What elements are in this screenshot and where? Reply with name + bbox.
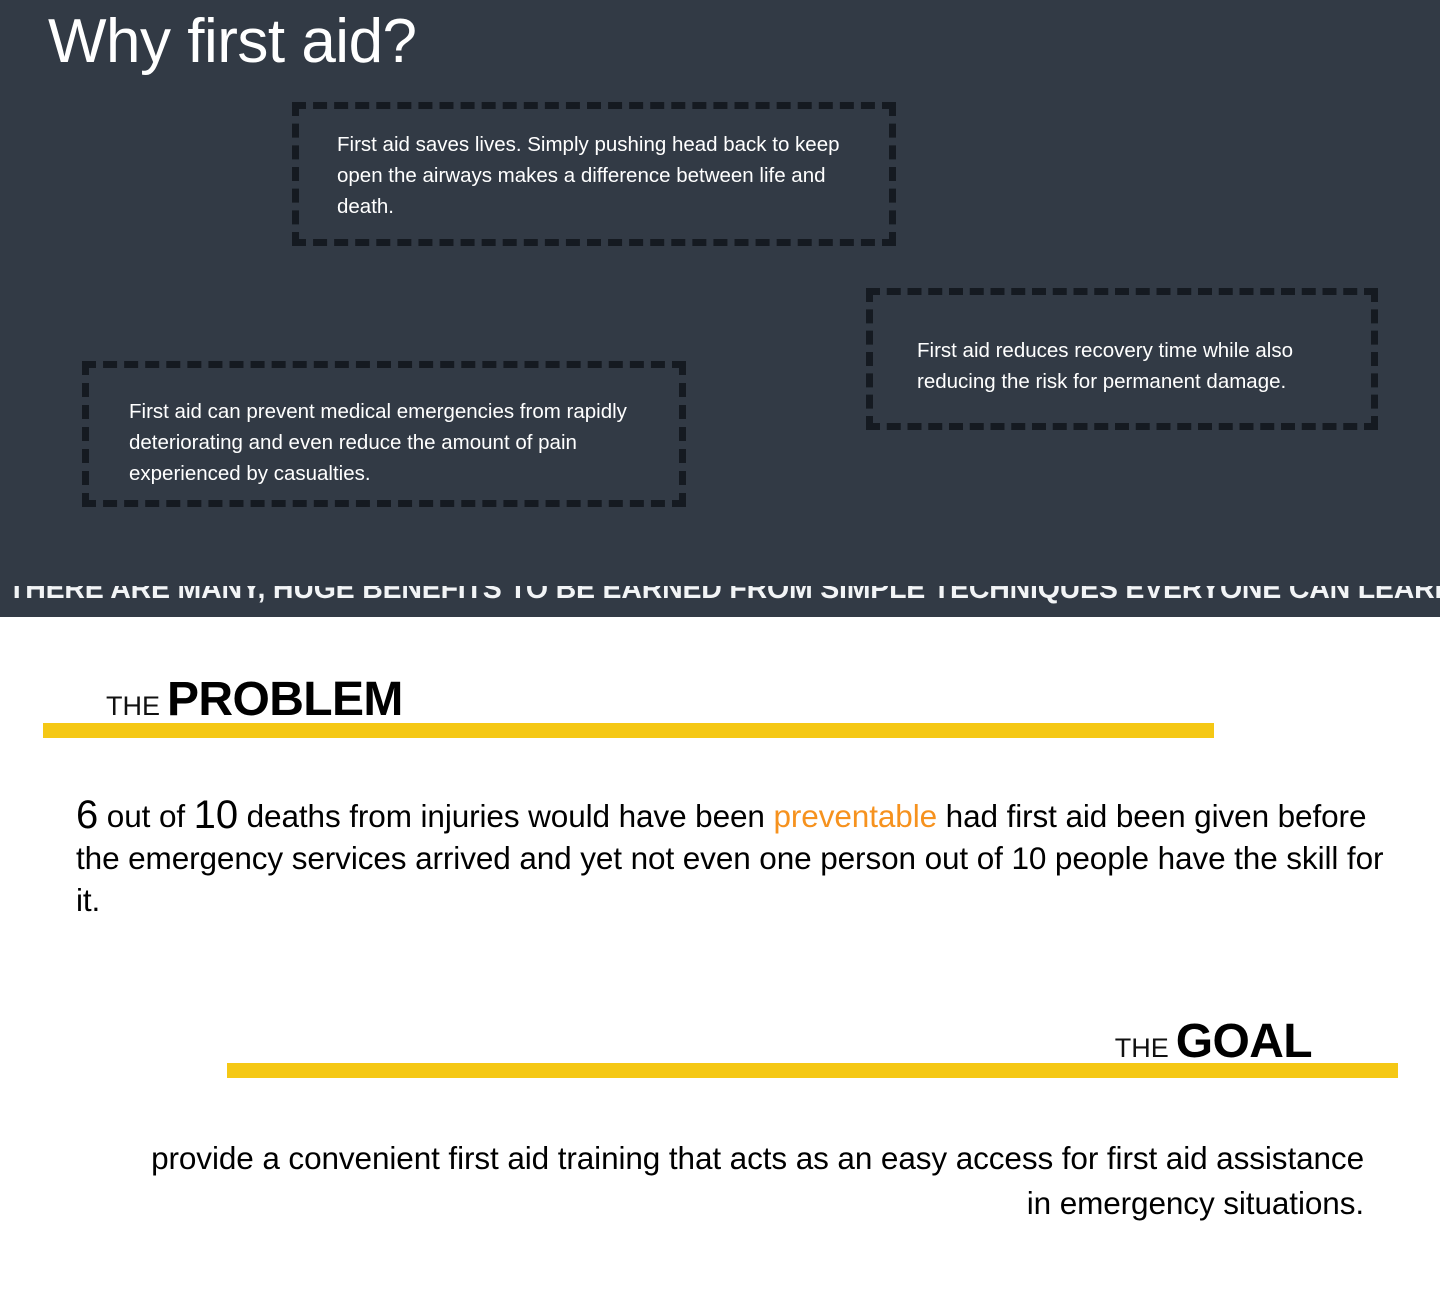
problem-stat-denominator: 10 xyxy=(194,793,238,837)
goal-headline: GOAL xyxy=(1176,1014,1312,1069)
problem-kicker: THE xyxy=(106,691,160,722)
goal-body: provide a convenient first aid training … xyxy=(134,1136,1364,1225)
problem-body: 6 out of 10 deaths from injuries would h… xyxy=(76,795,1386,922)
callout-box-prevent-emergencies: First aid can prevent medical emergencie… xyxy=(82,361,686,507)
page-title: Why first aid? xyxy=(48,6,417,77)
goal-heading: THE GOAL xyxy=(1115,1014,1312,1069)
hero-section: Why first aid? First aid saves lives. Si… xyxy=(0,0,1440,617)
callout-box-saves-lives: First aid saves lives. Simply pushing he… xyxy=(292,102,896,246)
problem-underline-rule xyxy=(43,723,1214,738)
problem-headline: PROBLEM xyxy=(167,672,403,727)
problem-heading: THE PROBLEM xyxy=(106,672,403,727)
content-section: THE PROBLEM 6 out of 10 deaths from inju… xyxy=(0,617,1440,1304)
benefits-banner-text: THERE ARE MANY, HUGE BENEFITS TO BE EARN… xyxy=(8,586,1440,604)
callout-text: First aid reduces recovery time while al… xyxy=(917,335,1347,397)
callout-box-recovery-time: First aid reduces recovery time while al… xyxy=(866,288,1378,430)
benefits-banner: THERE ARE MANY, HUGE BENEFITS TO BE EARN… xyxy=(0,586,1440,617)
callout-text: First aid can prevent medical emergencie… xyxy=(129,396,655,489)
problem-text-segment-1: out of xyxy=(98,798,194,834)
goal-underline-rule xyxy=(227,1063,1398,1078)
callout-text: First aid saves lives. Simply pushing he… xyxy=(337,129,859,222)
problem-stat-numerator: 6 xyxy=(76,793,98,837)
problem-text-segment-2: deaths from injuries would have been xyxy=(238,798,774,834)
problem-accent-word: preventable xyxy=(773,798,937,834)
goal-kicker: THE xyxy=(1115,1033,1169,1064)
